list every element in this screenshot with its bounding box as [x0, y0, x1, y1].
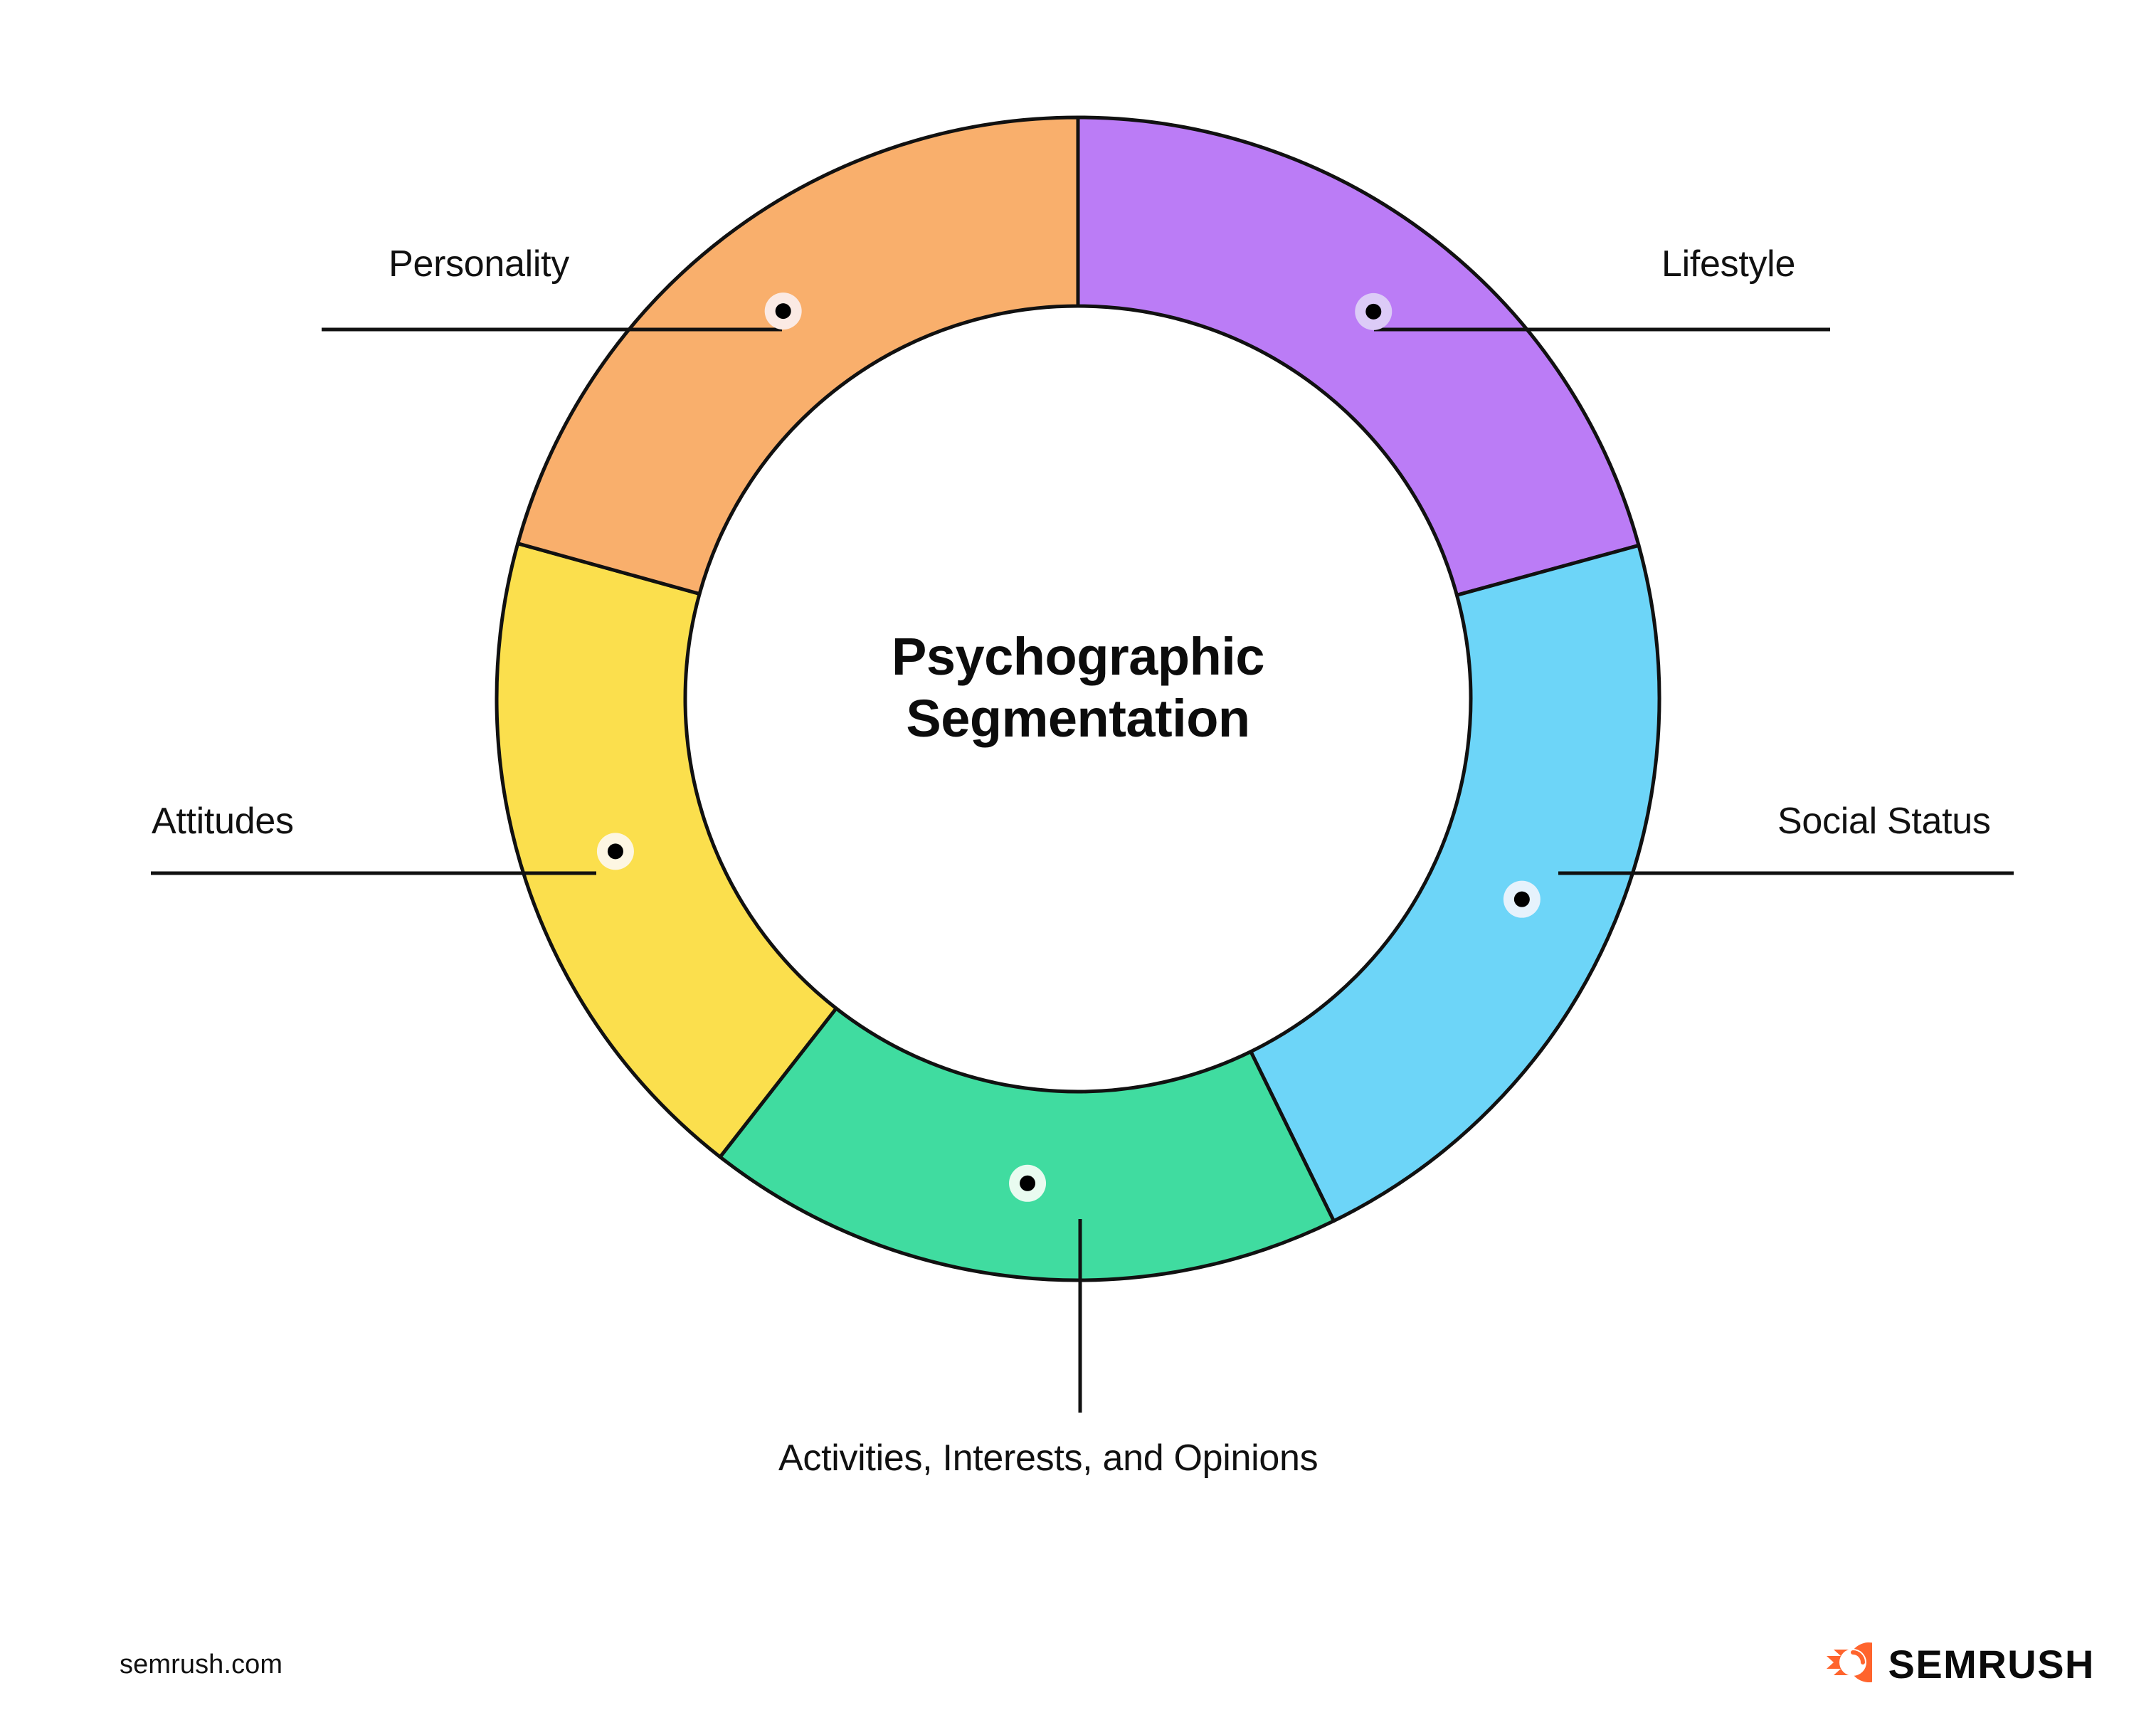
- donut-segment-personality[interactable]: [518, 117, 1078, 594]
- segment-label-attitudes: Attitudes: [152, 803, 294, 840]
- donut-segment-lifestyle[interactable]: [1078, 117, 1639, 595]
- segment-label-social-status: Social Status: [1777, 803, 1991, 840]
- segment-label-lifestyle: Lifestyle: [1661, 246, 1795, 283]
- center-title-line-1: Psychographic: [687, 626, 1469, 688]
- marker-dot: [1365, 304, 1381, 320]
- marker-dot: [776, 303, 791, 319]
- segment-label-activities-interests-opinions: Activities, Interests, and Opinions: [778, 1440, 1318, 1477]
- semrush-wordmark: SEMRUSH: [1888, 1645, 2095, 1684]
- infographic-canvas: Personality Lifestyle Attitudes Social S…: [0, 0, 2156, 1725]
- segment-label-personality: Personality: [389, 246, 569, 283]
- semrush-comet-icon: [1812, 1637, 1872, 1692]
- donut-segment-activities-interests-and-opinions[interactable]: [720, 1008, 1333, 1280]
- footer-source-url: semrush.com: [120, 1650, 282, 1680]
- marker-dot: [1514, 892, 1530, 907]
- semrush-logo: SEMRUSH: [1812, 1637, 2095, 1692]
- center-title-line-2: Segmentation: [687, 688, 1469, 750]
- chart-center-title: Psychographic Segmentation: [687, 626, 1469, 749]
- marker-dot: [608, 843, 623, 859]
- marker-dot: [1020, 1176, 1035, 1191]
